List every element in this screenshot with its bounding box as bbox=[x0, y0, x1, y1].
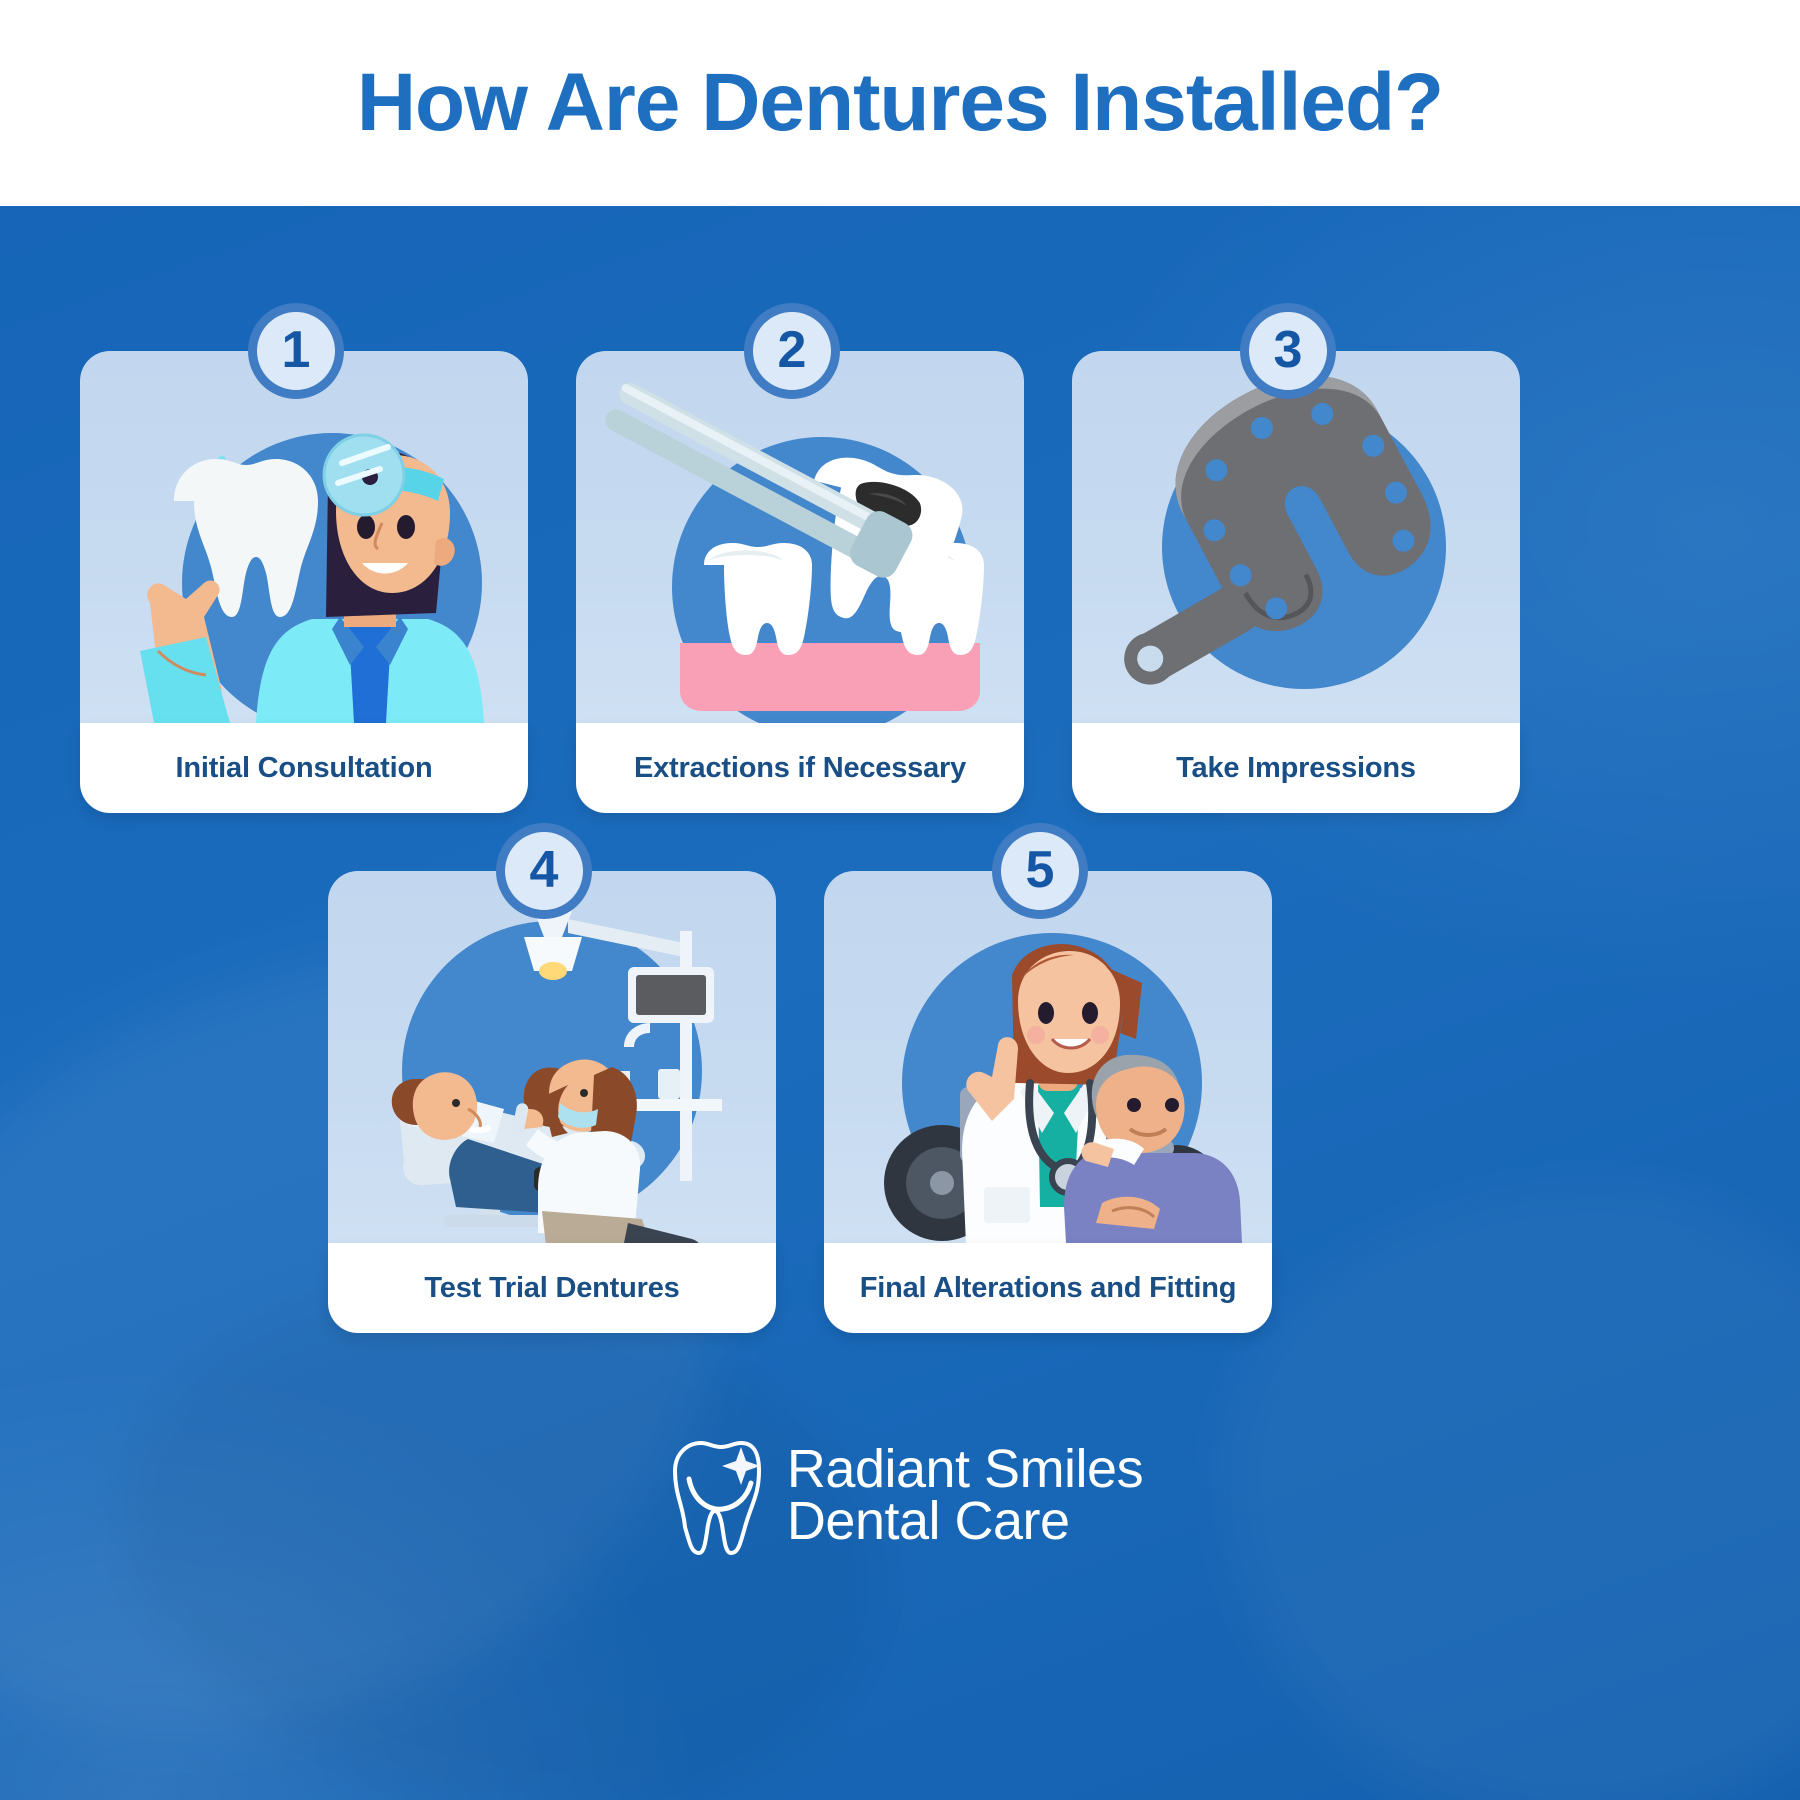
step-label-container-5: Final Alterations and Fitting bbox=[824, 1243, 1272, 1333]
dental-clinic-chair-icon bbox=[328, 871, 776, 1243]
step-illustration-5 bbox=[824, 871, 1272, 1243]
step-label-4: Test Trial Dentures bbox=[424, 1272, 679, 1305]
step-label-3: Take Impressions bbox=[1176, 752, 1416, 785]
step-label-1: Initial Consultation bbox=[176, 752, 433, 785]
tooth-smile-logo-icon bbox=[657, 1437, 765, 1555]
step-number-badge-3: 3 bbox=[1240, 303, 1336, 399]
dentist-holding-tooth-icon bbox=[80, 351, 528, 723]
step-number-3: 3 bbox=[1274, 324, 1303, 376]
step-number-badge-1: 1 bbox=[248, 303, 344, 399]
step-number-badge-5: 5 bbox=[992, 823, 1088, 919]
step-illustration-3 bbox=[1072, 351, 1520, 723]
brand-name: Radiant Smiles Dental Care bbox=[787, 1444, 1143, 1548]
header-bar: How Are Dentures Installed? bbox=[0, 0, 1800, 206]
step-label-5: Final Alterations and Fitting bbox=[860, 1272, 1237, 1305]
step-label-2: Extractions if Necessary bbox=[634, 752, 966, 785]
page-title: How Are Dentures Installed? bbox=[357, 62, 1443, 144]
step-number-4: 4 bbox=[530, 844, 559, 896]
step-label-container-4: Test Trial Dentures bbox=[328, 1243, 776, 1333]
step-card-2[interactable]: 2 bbox=[576, 351, 1024, 813]
step-card-5[interactable]: 5 bbox=[824, 871, 1272, 1333]
brand-line-1: Radiant Smiles bbox=[787, 1444, 1143, 1496]
step-number-badge-4: 4 bbox=[496, 823, 592, 919]
step-label-container-3: Take Impressions bbox=[1072, 723, 1520, 813]
step-label-container-1: Initial Consultation bbox=[80, 723, 528, 813]
step-illustration-2 bbox=[576, 351, 1024, 723]
step-card-4[interactable]: 4 bbox=[328, 871, 776, 1333]
step-number-1: 1 bbox=[282, 324, 311, 376]
doctor-with-elderly-patient-icon bbox=[824, 871, 1272, 1243]
step-illustration-1 bbox=[80, 351, 528, 723]
step-number-5: 5 bbox=[1026, 844, 1055, 896]
step-illustration-4 bbox=[328, 871, 776, 1243]
infographic-stage: 1 bbox=[0, 206, 1800, 1800]
tooth-extraction-forceps-icon bbox=[576, 351, 1024, 723]
dental-impression-tray-icon bbox=[1072, 351, 1520, 723]
step-card-3[interactable]: 3 bbox=[1072, 351, 1520, 813]
brand-footer: Radiant Smiles Dental Care bbox=[0, 1386, 1800, 1606]
step-number-2: 2 bbox=[778, 324, 807, 376]
step-label-container-2: Extractions if Necessary bbox=[576, 723, 1024, 813]
step-number-badge-2: 2 bbox=[744, 303, 840, 399]
brand-line-2: Dental Care bbox=[787, 1496, 1143, 1548]
step-card-1[interactable]: 1 bbox=[80, 351, 528, 813]
